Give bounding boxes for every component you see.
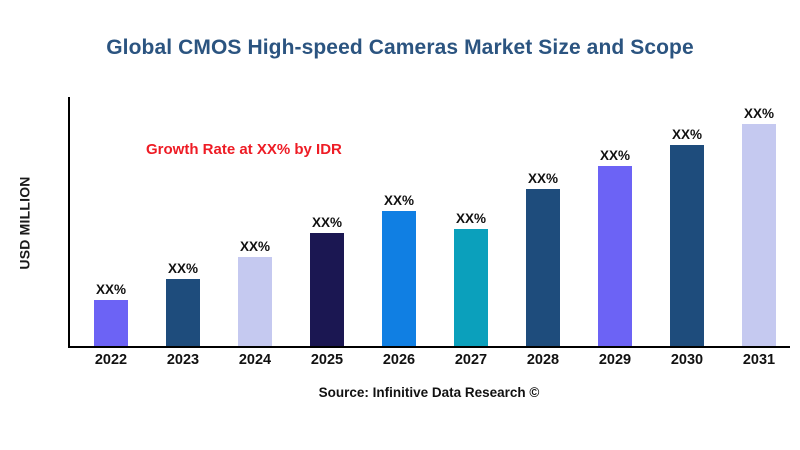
- bar-value-label: XX%: [600, 149, 630, 163]
- bar-group[interactable]: XX%: [508, 172, 578, 347]
- bar-2031[interactable]: [742, 124, 776, 346]
- bar-group[interactable]: XX%: [724, 107, 794, 347]
- bar-group[interactable]: XX%: [436, 212, 506, 347]
- chart-container: Global CMOS High-speed Cameras Market Si…: [0, 0, 800, 450]
- bar-group[interactable]: XX%: [292, 216, 362, 347]
- bar-value-label: XX%: [168, 262, 198, 276]
- bar-2023[interactable]: [166, 279, 200, 346]
- bar-series: XX%XX%XX%XX%XX%XX%XX%XX%XX%XX%: [68, 97, 790, 346]
- bar-group[interactable]: XX%: [652, 128, 722, 347]
- x-tick-2029: 2029: [580, 352, 650, 368]
- bar-2028[interactable]: [526, 189, 560, 346]
- x-tick-2027: 2027: [436, 352, 506, 368]
- chart-title: Global CMOS High-speed Cameras Market Si…: [0, 36, 800, 60]
- bar-group[interactable]: XX%: [580, 149, 650, 347]
- source-caption: Source: Infinitive Data Research ©: [68, 385, 790, 400]
- x-tick-2026: 2026: [364, 352, 434, 368]
- bar-2024[interactable]: [238, 257, 272, 346]
- bar-group[interactable]: XX%: [76, 283, 146, 347]
- bar-value-label: XX%: [240, 240, 270, 254]
- bar-value-label: XX%: [456, 212, 486, 226]
- y-axis-label-text: USD MILLION: [17, 176, 33, 269]
- bar-2029[interactable]: [598, 166, 632, 346]
- x-axis-line: [68, 346, 790, 348]
- x-tick-2028: 2028: [508, 352, 578, 368]
- x-tick-2022: 2022: [76, 352, 146, 368]
- bar-value-label: XX%: [96, 283, 126, 297]
- bar-2022[interactable]: [94, 300, 128, 346]
- x-tick-2024: 2024: [220, 352, 290, 368]
- x-tick-2031: 2031: [724, 352, 794, 368]
- bar-2026[interactable]: [382, 211, 416, 346]
- bar-value-label: XX%: [528, 172, 558, 186]
- bar-2030[interactable]: [670, 145, 704, 346]
- bar-value-label: XX%: [312, 216, 342, 230]
- bar-2027[interactable]: [454, 229, 488, 346]
- bar-group[interactable]: XX%: [364, 194, 434, 347]
- bar-group[interactable]: XX%: [220, 240, 290, 347]
- x-axis-tick-labels: 2022202320242025202620272028202920302031: [68, 352, 790, 378]
- bar-2025[interactable]: [310, 233, 344, 346]
- x-tick-2030: 2030: [652, 352, 722, 368]
- bar-group[interactable]: XX%: [148, 262, 218, 347]
- y-axis-label: USD MILLION: [14, 97, 36, 348]
- x-tick-2023: 2023: [148, 352, 218, 368]
- bar-value-label: XX%: [384, 194, 414, 208]
- plot-area: Growth Rate at XX% by IDR XX%XX%XX%XX%XX…: [68, 97, 790, 348]
- bar-value-label: XX%: [672, 128, 702, 142]
- x-tick-2025: 2025: [292, 352, 362, 368]
- bar-value-label: XX%: [744, 107, 774, 121]
